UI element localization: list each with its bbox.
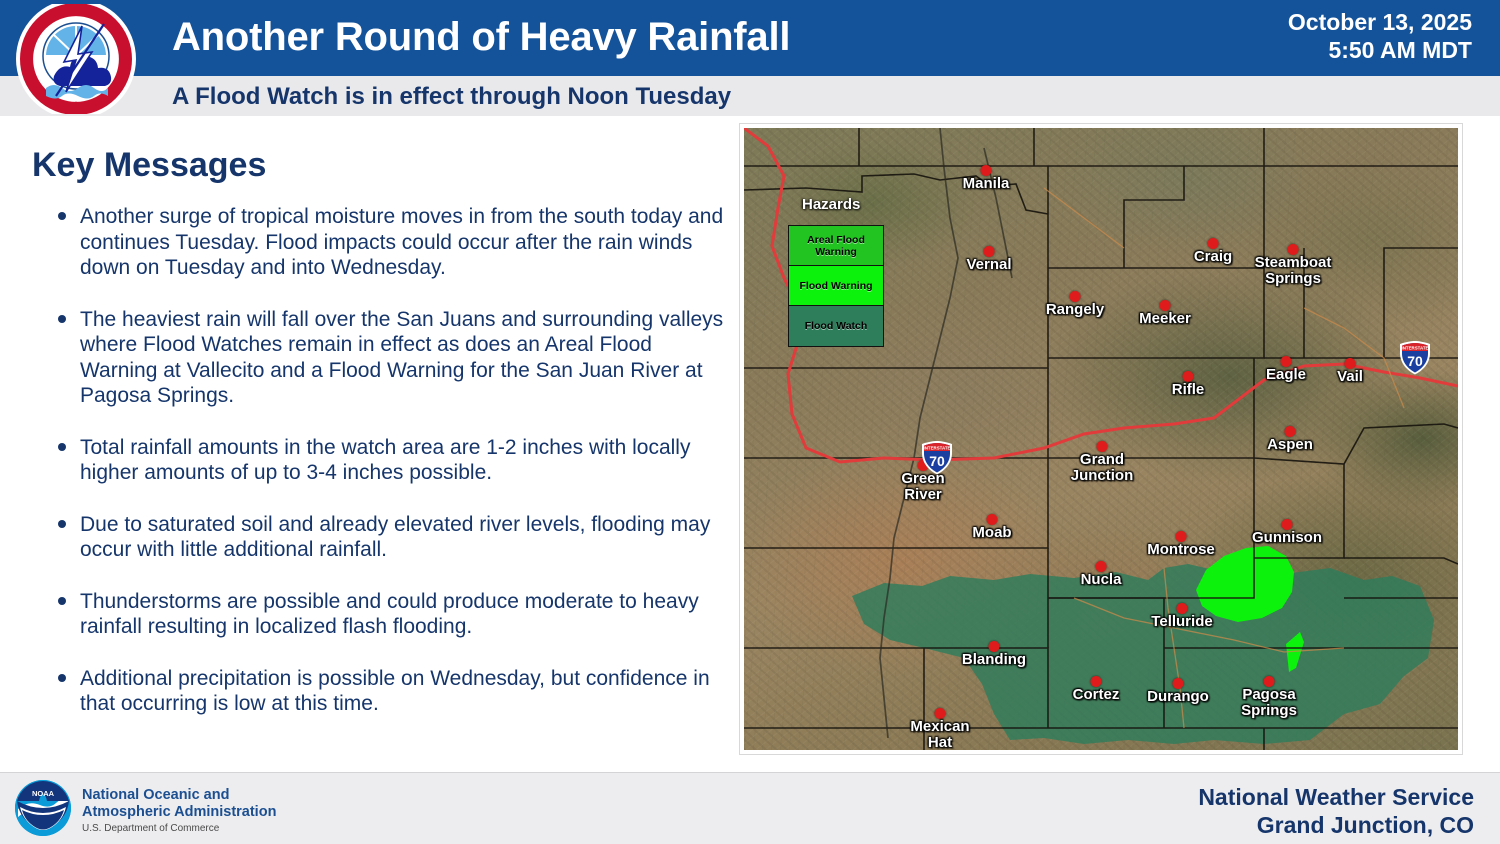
city-label: Pagosa Springs: [1241, 687, 1297, 719]
city-label: Gunnison: [1252, 530, 1322, 546]
noaa-line-2: Atmospheric Administration: [82, 804, 276, 821]
list-item: Due to saturated soil and already elevat…: [52, 512, 732, 563]
department-of-commerce-label: U.S. Department of Commerce: [82, 823, 219, 835]
bullet-text: Thunderstorms are possible and could pro…: [80, 590, 699, 639]
hazards-legend: Areal Flood Warning Flood Warning Flood …: [788, 225, 884, 347]
bullet-text: Additional precipitation is possible on …: [80, 667, 710, 716]
city-label: Nucla: [1081, 572, 1122, 588]
city-label: Grand Junction: [1071, 452, 1134, 484]
city-label: Durango: [1147, 689, 1209, 705]
noaa-logo: NOAA: [14, 779, 72, 837]
city-label: Moab: [972, 525, 1011, 541]
list-item: Thunderstorms are possible and could pro…: [52, 589, 732, 640]
issue-date: October 13, 2025: [1288, 8, 1472, 36]
issuing-office: National Weather Service Grand Junction,…: [1198, 783, 1474, 839]
city-label: Meeker: [1139, 311, 1191, 327]
city-label: Montrose: [1147, 542, 1215, 558]
list-item: The heaviest rain will fall over the San…: [52, 307, 732, 409]
hazard-map[interactable]: Hazards Areal Flood Warning Flood Warnin…: [744, 128, 1458, 750]
legend-item-flood-warning: Flood Warning: [789, 266, 883, 306]
legend-title: Hazards: [802, 196, 860, 213]
bullet-dot-icon: [58, 674, 66, 682]
bullet-text: The heaviest rain will fall over the San…: [80, 308, 723, 408]
legend-item-areal-flood-warning: Areal Flood Warning: [789, 226, 883, 266]
bullet-text: Another surge of tropical moisture moves…: [80, 205, 723, 279]
svg-text:NOAA: NOAA: [32, 789, 55, 798]
list-item: Total rainfall amounts in the watch area…: [52, 435, 732, 486]
national-weather-service-logo: N A T I O N A L W E A T H E R S E R V I …: [16, 4, 136, 114]
shield-route-number: 70: [1407, 353, 1423, 369]
svg-text:T: T: [21, 56, 32, 62]
bullet-dot-icon: [58, 520, 66, 528]
noaa-line-1: National Oceanic and: [82, 787, 276, 804]
page-title: Another Round of Heavy Rainfall: [172, 15, 790, 60]
office-line-2: Grand Junction, CO: [1198, 811, 1474, 839]
svg-text:INTERSTATE: INTERSTATE: [1402, 346, 1429, 351]
bullet-dot-icon: [58, 212, 66, 220]
bullet-dot-icon: [58, 443, 66, 451]
city-label: Aspen: [1267, 437, 1313, 453]
key-messages-list: Another surge of tropical moisture moves…: [52, 204, 732, 743]
interstate-70-shield-east: INTERSTATE 70: [1398, 340, 1432, 376]
shield-route-number: 70: [929, 453, 945, 469]
legend-item-flood-watch: Flood Watch: [789, 306, 883, 346]
page-footer: NOAA National Oceanic and Atmospheric Ad…: [0, 772, 1500, 844]
office-line-1: National Weather Service: [1198, 783, 1474, 811]
page-header: Another Round of Heavy Rainfall October …: [0, 0, 1500, 76]
svg-text:E: E: [77, 4, 84, 15]
city-label: Manila: [963, 176, 1010, 192]
city-label: Steamboat Springs: [1255, 255, 1332, 287]
list-item: Additional precipitation is possible on …: [52, 666, 732, 717]
list-item: Another surge of tropical moisture moves…: [52, 204, 732, 281]
bullet-dot-icon: [58, 597, 66, 605]
city-label: Eagle: [1266, 367, 1306, 383]
subtitle-text: A Flood Watch is in effect through Noon …: [172, 83, 731, 111]
city-label: Vail: [1337, 369, 1363, 385]
city-label: Rangely: [1046, 302, 1104, 318]
svg-text:INTERSTATE: INTERSTATE: [924, 446, 951, 451]
bullet-text: Total rainfall amounts in the watch area…: [80, 436, 690, 485]
bullet-text: Due to saturated soil and already elevat…: [80, 513, 710, 562]
interstate-70-shield-west: INTERSTATE 70: [920, 440, 954, 476]
city-label: Mexican Hat: [910, 719, 969, 750]
key-messages-heading: Key Messages: [32, 146, 266, 185]
svg-text:S: S: [120, 52, 131, 59]
issue-time: 5:50 AM MDT: [1288, 36, 1472, 64]
subtitle-bar: A Flood Watch is in effect through Noon …: [0, 76, 1500, 116]
city-label: Telluride: [1151, 614, 1212, 630]
city-label: Rifle: [1172, 382, 1205, 398]
city-label: Blanding: [962, 652, 1026, 668]
noaa-agency-name: National Oceanic and Atmospheric Adminis…: [82, 787, 276, 821]
svg-text:W: W: [64, 4, 74, 16]
city-label: Cortez: [1073, 687, 1120, 703]
header-timestamp: October 13, 2025 5:50 AM MDT: [1288, 8, 1472, 64]
city-label: Vernal: [966, 257, 1011, 273]
city-label: Craig: [1194, 249, 1232, 265]
map-vector-layer: [744, 128, 1458, 750]
bullet-dot-icon: [58, 315, 66, 323]
